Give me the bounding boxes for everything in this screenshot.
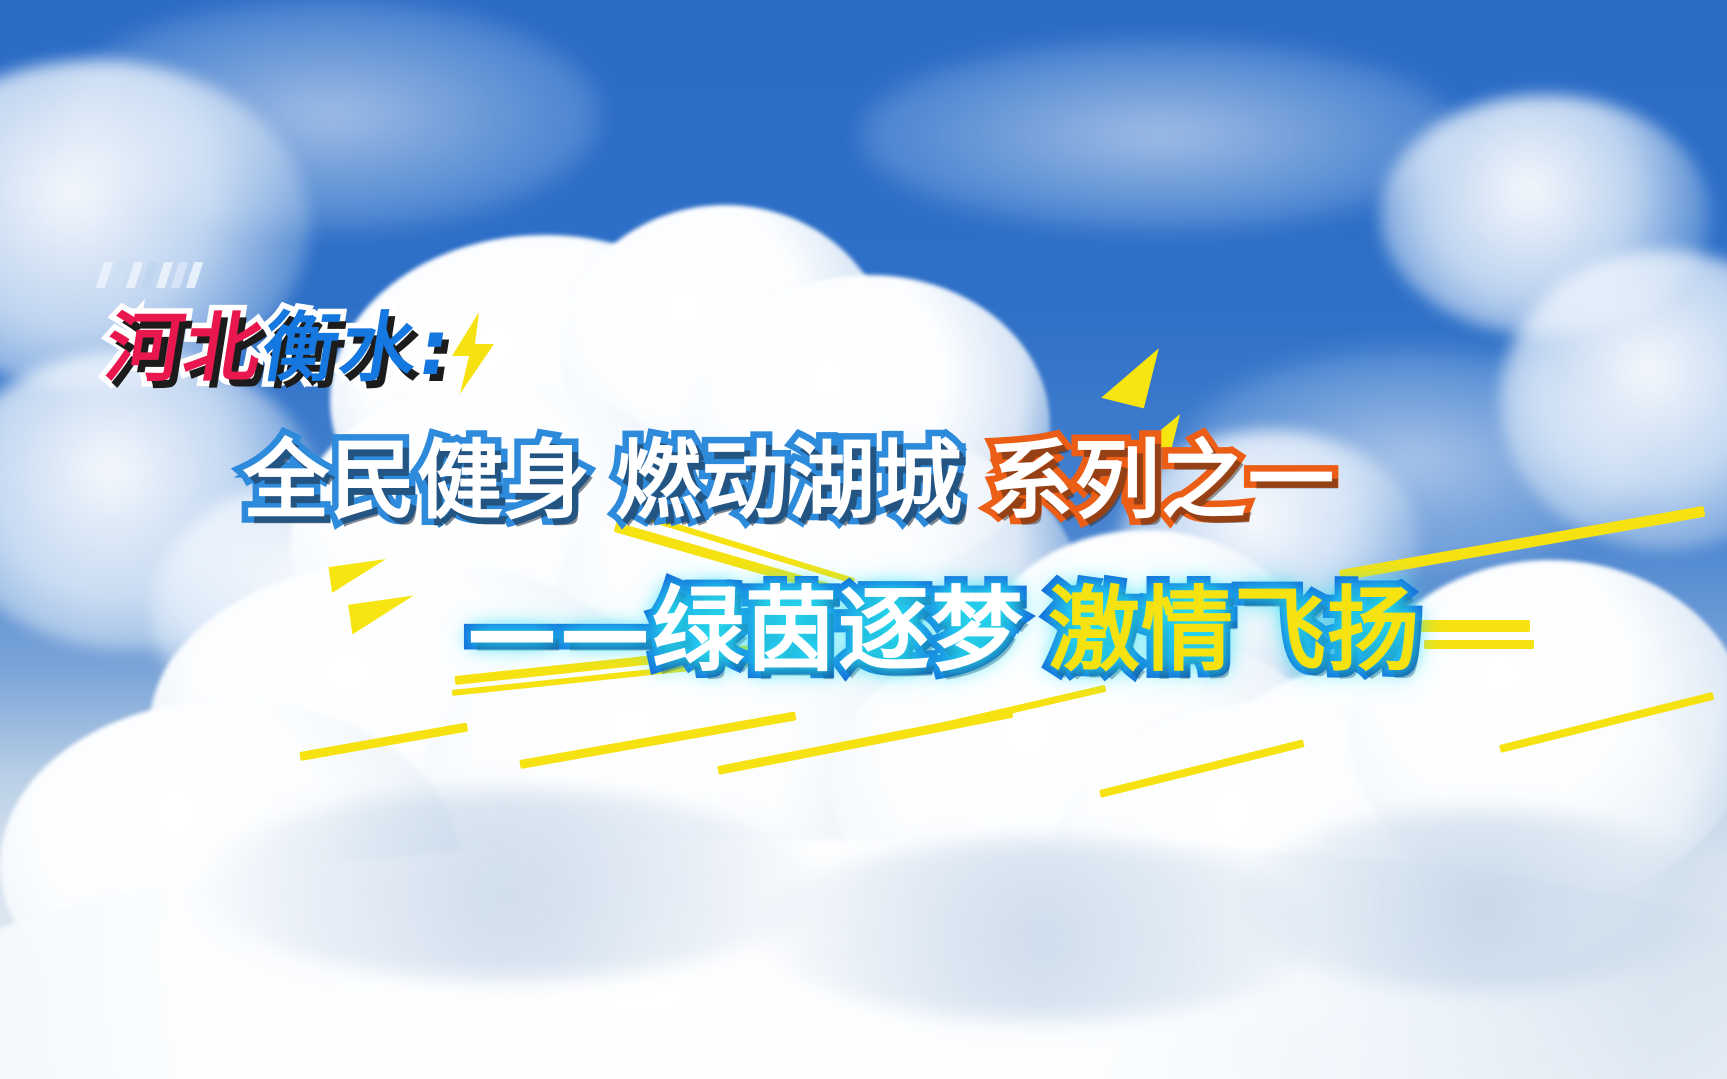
title-line2-segment-fitness: 全民健身 bbox=[243, 431, 591, 531]
title-line1-segment-city: 衡水: bbox=[255, 286, 461, 396]
title-block: 河北衡水: 全民健身燃动湖城系列之一 ——绿茵逐梦激情飞扬 bbox=[0, 0, 1727, 1079]
title-line3-segment-green-dream: ——绿茵逐梦 bbox=[466, 577, 1024, 684]
title-line2-segment-lakecity: 燃动湖城 bbox=[615, 431, 963, 531]
title-line-3: ——绿茵逐梦激情飞扬 bbox=[466, 556, 1420, 689]
title-line-2: 全民健身燃动湖城系列之一 bbox=[243, 410, 1335, 535]
title-line1-segment-region: 河北 bbox=[99, 286, 272, 396]
title-card-canvas: 河北衡水: 全民健身燃动湖城系列之一 ——绿茵逐梦激情飞扬 bbox=[0, 0, 1727, 1079]
title-line-1: 河北衡水: bbox=[99, 286, 461, 396]
title-line3-segment-passion: 激情飞扬 bbox=[1048, 577, 1420, 684]
title-line2-segment-series: 系列之一 bbox=[987, 431, 1335, 531]
